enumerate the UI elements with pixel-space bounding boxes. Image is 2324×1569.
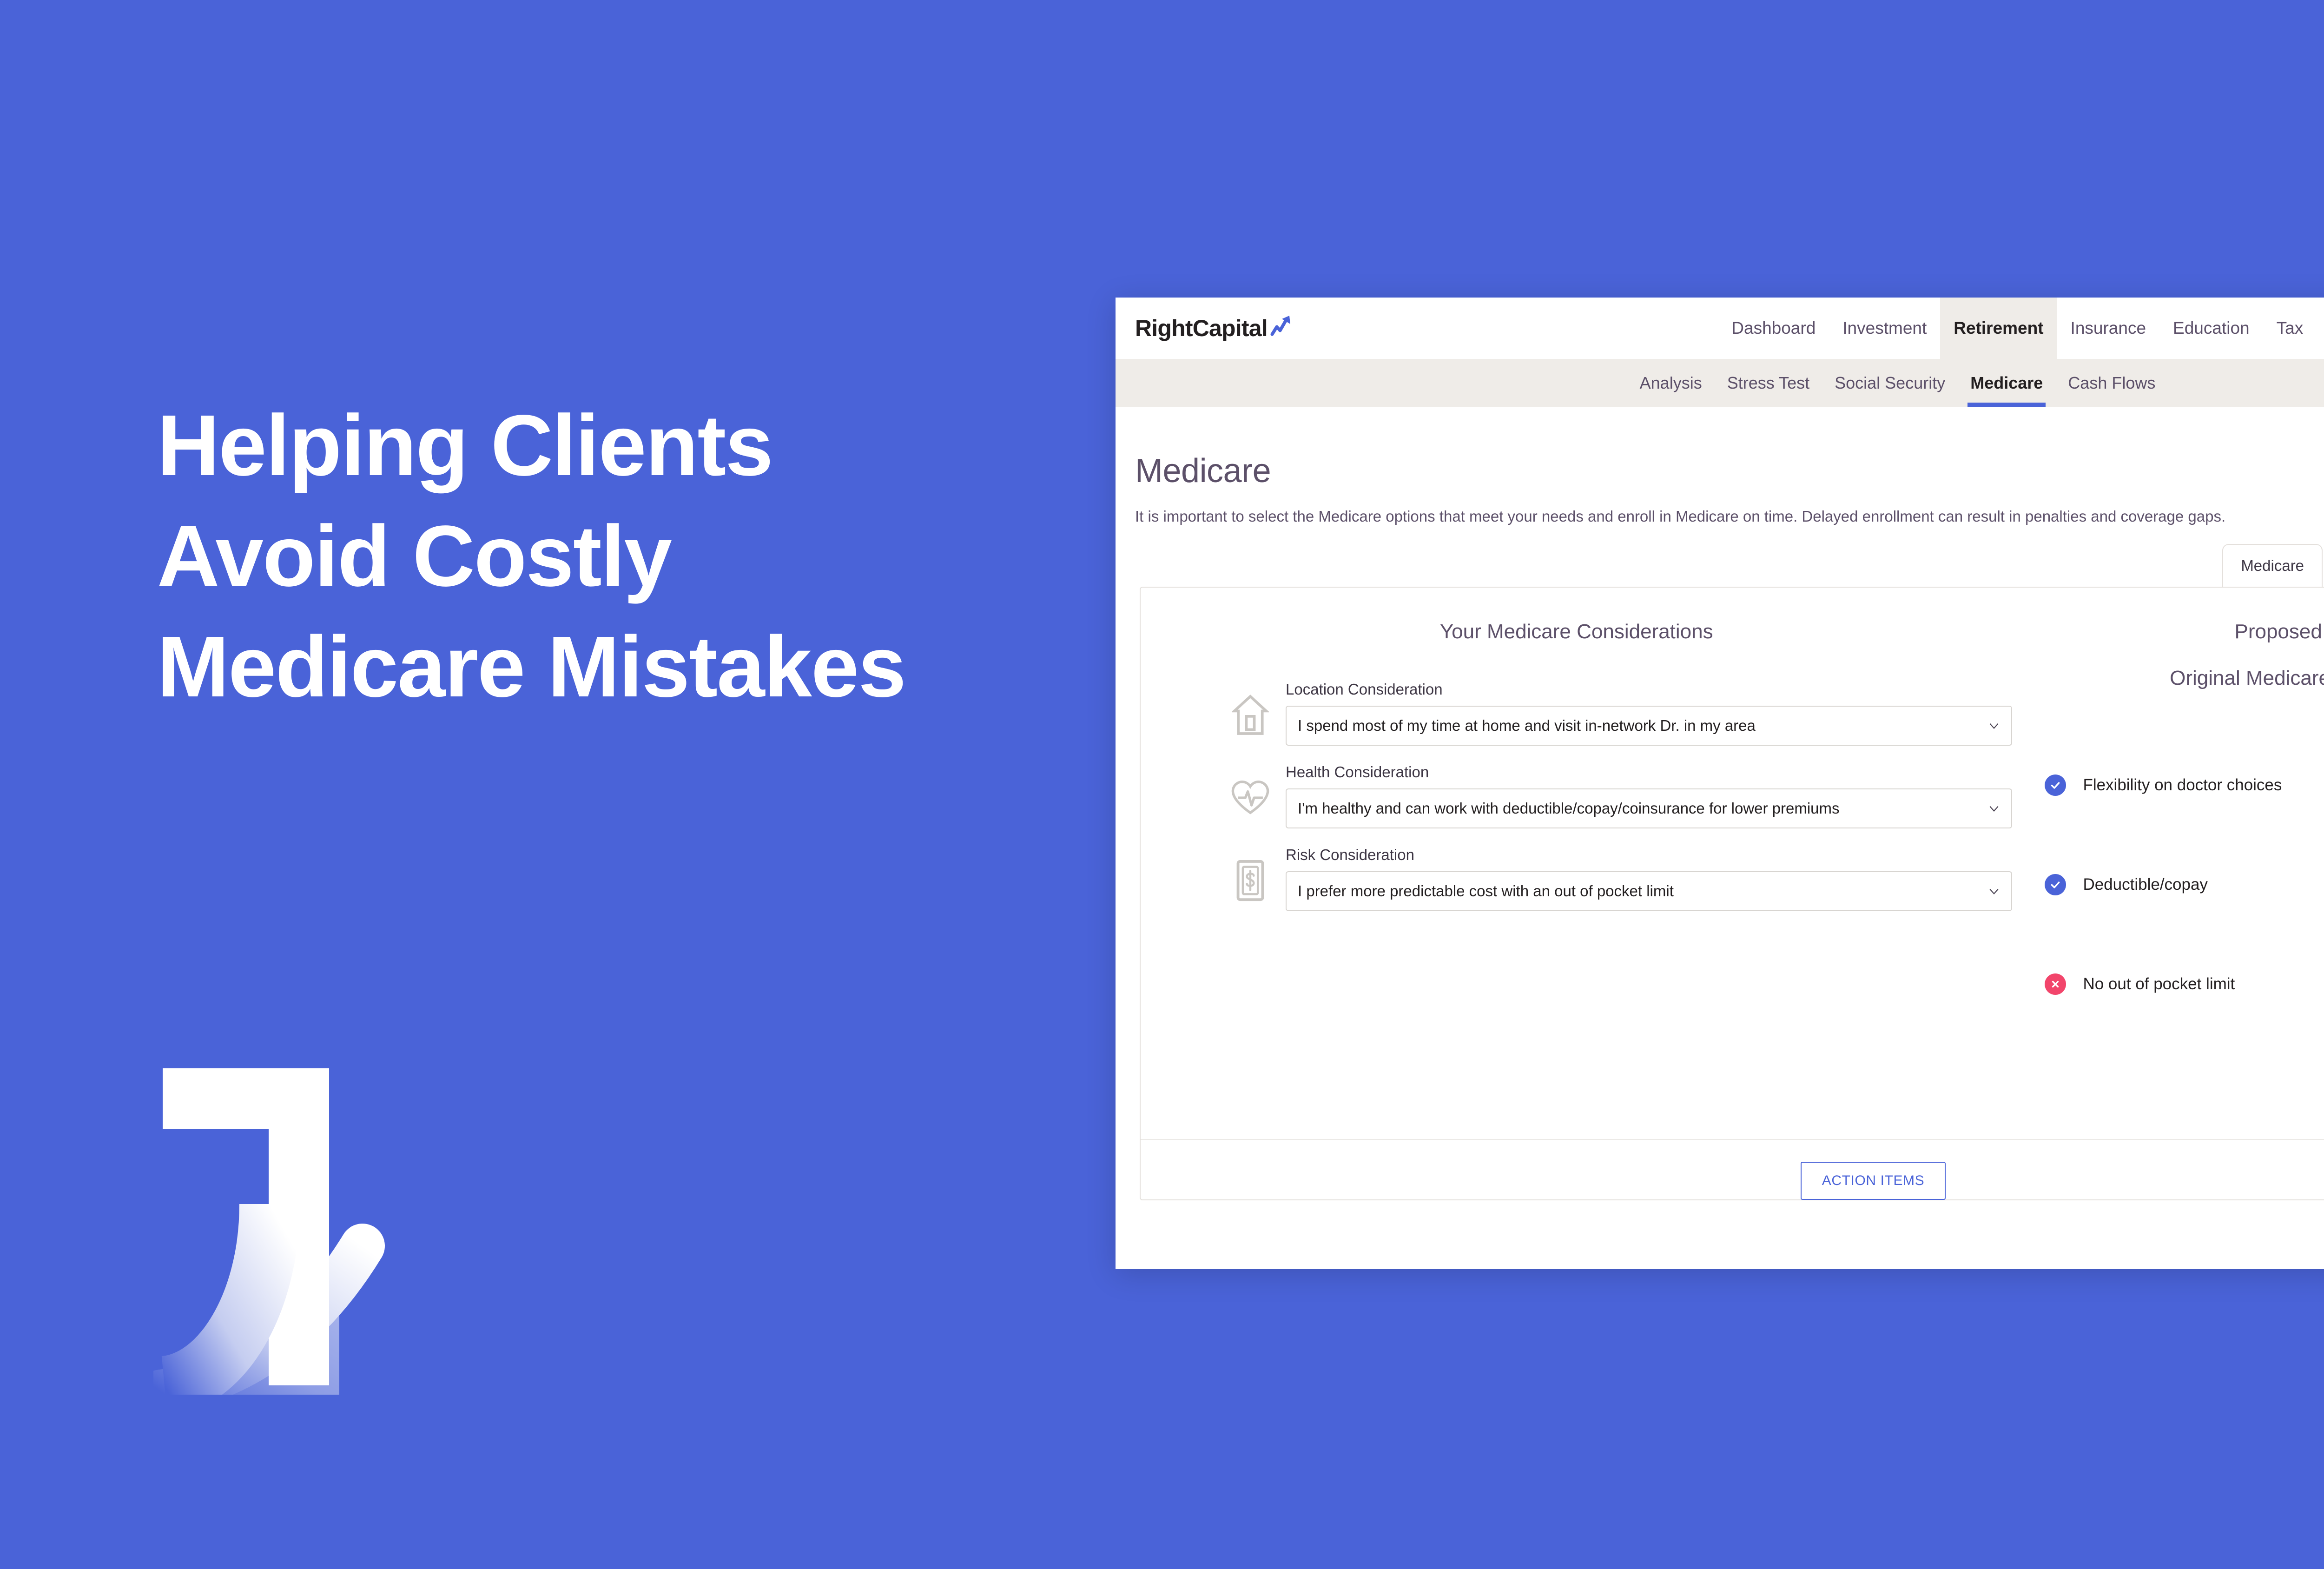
benefit-label-flexibility: Flexibility on doctor choices (2083, 776, 2282, 794)
health-consideration-select[interactable]: I'm healthy and can work with deductible… (1286, 788, 2012, 828)
chevron-down-icon (1988, 802, 2000, 814)
check-circle-icon (2045, 775, 2066, 796)
trend-arrow-logo-icon (1270, 314, 1294, 338)
subnav-item-medicare[interactable]: Medicare (1958, 373, 2055, 393)
considerations-list: Location Consideration I spend most of m… (1141, 681, 2012, 911)
card-footer: ACTION ITEMS (1141, 1139, 2324, 1199)
promo-headline-line-1: Helping Clients (157, 391, 1087, 501)
top-nav-items: Dashboard Investment Retirement Insuranc… (1718, 298, 2324, 359)
house-icon (1229, 691, 1272, 739)
consideration-label-location: Location Consideration (1286, 681, 2012, 698)
risk-consideration-value: I prefer more predictable cost with an o… (1298, 882, 1674, 900)
dollar-bill-icon (1229, 856, 1272, 905)
proposed-option-subheading: Original Medicare, Part A, B, D (2012, 667, 2324, 690)
topnav-item-retirement[interactable]: Retirement (1940, 298, 2057, 359)
topnav-item-education[interactable]: Education (2159, 298, 2263, 359)
consideration-body-health: Health Consideration I'm healthy and can… (1286, 763, 2012, 828)
rightcapital-app-window: RightCapital Dashboard Investment Retire… (1116, 298, 2324, 1269)
upward-trend-arrow-icon (153, 1060, 516, 1395)
consideration-body-risk: Risk Consideration I prefer more predict… (1286, 846, 2012, 911)
brand-logo[interactable]: RightCapital (1116, 298, 1294, 359)
subnav-item-cash-flows[interactable]: Cash Flows (2055, 373, 2168, 393)
considerations-panel: Your Medicare Considerations Location Co… (1141, 588, 2012, 1199)
check-circle-icon (2045, 874, 2066, 895)
benefit-label-deductible: Deductible/copay (2083, 875, 2208, 894)
proposed-option-panel: Proposed option Original Medicare, Part … (2012, 588, 2324, 1199)
benefit-row-flexibility: Flexibility on doctor choices (2045, 735, 2324, 835)
location-consideration-value: I spend most of my time at home and visi… (1298, 717, 1756, 735)
topnav-item-investment[interactable]: Investment (1829, 298, 1940, 359)
cross-circle-icon (2045, 973, 2066, 995)
chevron-down-icon (1988, 720, 2000, 732)
medicare-card: Your Medicare Considerations Location Co… (1140, 587, 2324, 1200)
action-items-button[interactable]: ACTION ITEMS (1801, 1162, 1946, 1200)
consideration-row-health: Health Consideration I'm healthy and can… (1229, 763, 2012, 828)
subnav-item-analysis[interactable]: Analysis (1627, 373, 1715, 393)
consideration-row-location: Location Consideration I spend most of m… (1229, 681, 2012, 746)
page-description: It is important to select the Medicare o… (1135, 508, 2324, 525)
topnav-item-tax[interactable]: Tax (2263, 298, 2317, 359)
card-tab-bar: Medicare Coverage Enrollment Tips (1116, 544, 2324, 587)
consideration-body-location: Location Consideration I spend most of m… (1286, 681, 2012, 746)
benefits-list: Flexibility on doctor choices Deductible… (2012, 735, 2324, 1034)
location-consideration-select[interactable]: I spend most of my time at home and visi… (1286, 706, 2012, 746)
tab-medicare[interactable]: Medicare (2222, 544, 2323, 588)
benefit-label-no-oop-limit: No out of pocket limit (2083, 975, 2235, 993)
promo-headline-line-2: Avoid Costly (157, 501, 1087, 612)
health-consideration-value: I'm healthy and can work with deductible… (1298, 800, 1840, 817)
sub-navigation-bar: Analysis Stress Test Social Security Med… (1116, 359, 2324, 407)
subnav-item-stress-test[interactable]: Stress Test (1715, 373, 1822, 393)
subnav-item-social-security[interactable]: Social Security (1822, 373, 1958, 393)
consideration-label-risk: Risk Consideration (1286, 846, 2012, 864)
brand-name: RightCapital (1135, 315, 1268, 342)
chevron-down-icon (1988, 885, 2000, 897)
considerations-heading: Your Medicare Considerations (1141, 620, 2012, 643)
topnav-item-insurance[interactable]: Insurance (2057, 298, 2160, 359)
topnav-item-estate[interactable]: Estate (2317, 298, 2324, 359)
proposed-option-heading: Proposed option (2012, 620, 2324, 643)
sub-nav-items: Analysis Stress Test Social Security Med… (1627, 373, 2168, 393)
promo-headline-line-3: Medicare Mistakes (157, 612, 1087, 722)
benefit-row-no-oop-limit: No out of pocket limit (2045, 934, 2324, 1034)
benefit-row-deductible: Deductible/copay (2045, 835, 2324, 934)
topnav-item-dashboard[interactable]: Dashboard (1718, 298, 1829, 359)
risk-consideration-select[interactable]: I prefer more predictable cost with an o… (1286, 871, 2012, 911)
consideration-row-risk: Risk Consideration I prefer more predict… (1229, 846, 2012, 911)
page-content: Medicare It is important to select the M… (1116, 407, 2324, 1269)
heart-pulse-icon (1229, 774, 1272, 822)
top-navigation-bar: RightCapital Dashboard Investment Retire… (1116, 298, 2324, 359)
page-title: Medicare (1135, 452, 2324, 490)
consideration-label-health: Health Consideration (1286, 763, 2012, 781)
promo-headline: Helping Clients Avoid Costly Medicare Mi… (157, 391, 1087, 722)
